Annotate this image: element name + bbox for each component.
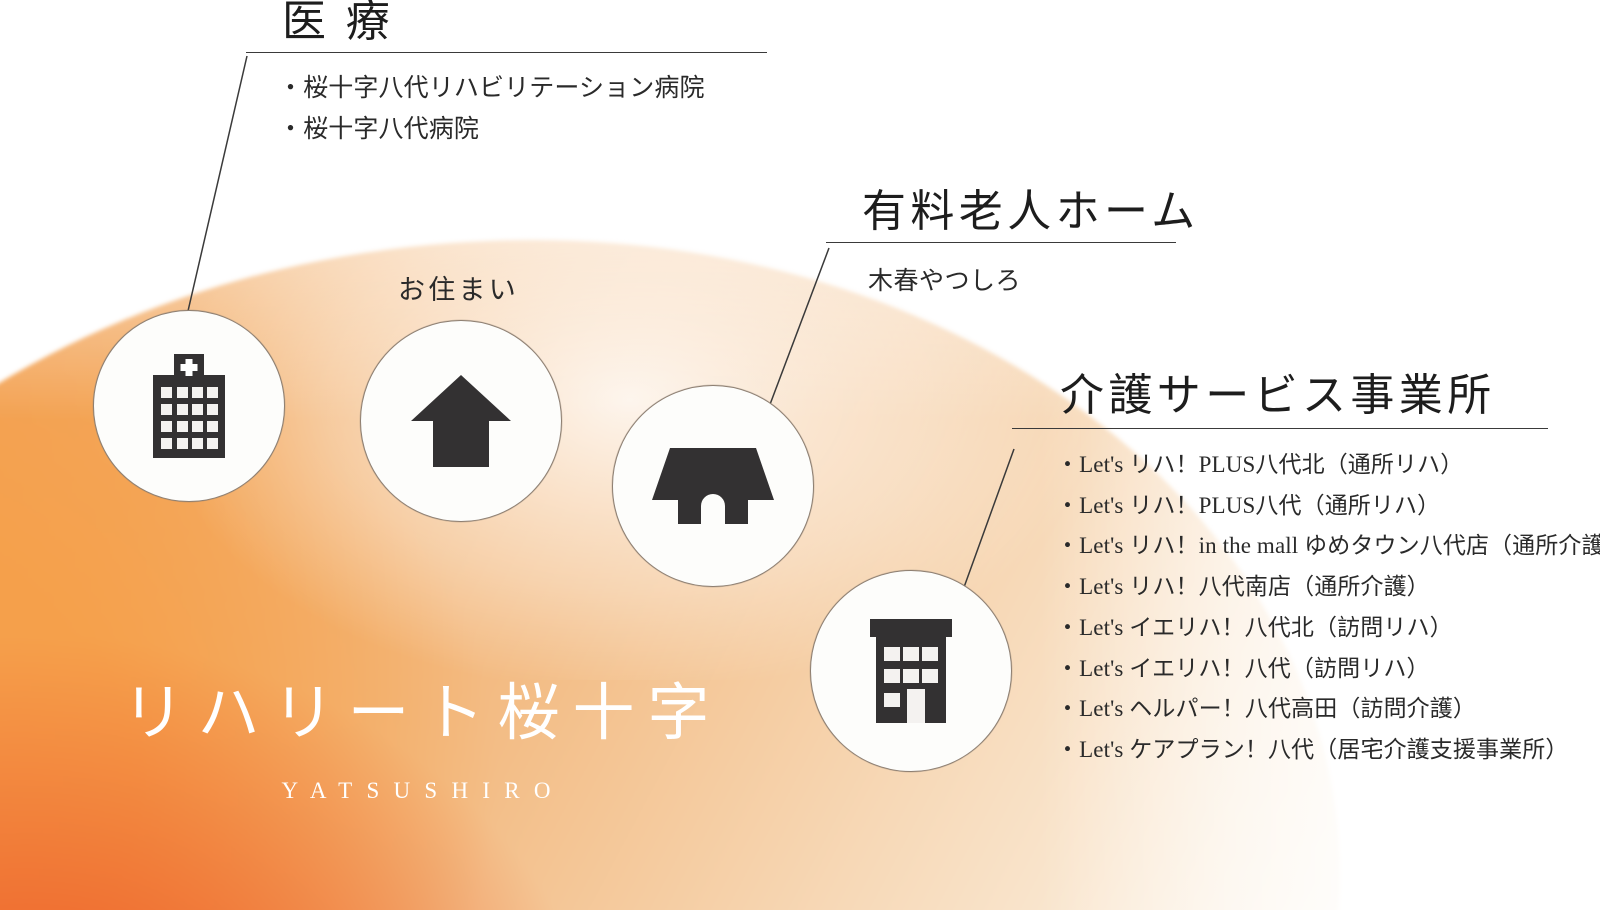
callout-medical: 医 療 ・桜十字八代リハビリテーション病院 ・桜十字八代病院 bbox=[246, 0, 767, 150]
node-circle-residence[interactable] bbox=[360, 320, 562, 522]
brand-lockup: リハリート桜十字 YATSUSHIRO bbox=[96, 680, 736, 804]
list-item: ・Let's ケアプラン！八代（居宅介護支援事業所） bbox=[1056, 730, 1600, 771]
list-item: ・Let's ヘルパー！八代高田（訪問介護） bbox=[1056, 689, 1600, 730]
callout-medical-list: ・桜十字八代リハビリテーション病院 ・桜十字八代病院 bbox=[278, 69, 767, 150]
callout-nursing-home: 有料老人ホーム 木春やつしろ bbox=[826, 190, 1199, 297]
list-item: ・Let's イエリハ！八代北（訪問リハ） bbox=[1056, 608, 1600, 649]
list-item: ・Let's リハ！八代南店（通所介護） bbox=[1056, 567, 1600, 608]
callout-care-service-list: ・Let's リハ！PLUS八代北（通所リハ） ・Let's リハ！PLUS八代… bbox=[1056, 445, 1600, 771]
infographic-canvas: お住まい 医 療 ・桜十字八代リハビリテーション病院 ・桜十字八代病院 有料老人… bbox=[0, 0, 1600, 910]
callout-care-service-title: 介護サービス事業所 bbox=[1060, 374, 1600, 418]
node-circle-nursing-home[interactable] bbox=[612, 385, 814, 587]
connector-care-service bbox=[963, 449, 1014, 590]
callout-nursing-home-item: 木春やつしろ bbox=[868, 261, 1199, 297]
connector-medical bbox=[188, 56, 247, 311]
node-circle-care-service[interactable] bbox=[810, 570, 1012, 772]
home-arrow-icon bbox=[411, 375, 511, 467]
list-item: ・Let's リハ！PLUS八代北（通所リハ） bbox=[1056, 445, 1600, 486]
hospital-building-icon bbox=[146, 354, 232, 458]
residence-label: お住まい bbox=[398, 268, 519, 307]
list-item: ・Let's イエリハ！八代（訪問リハ） bbox=[1056, 649, 1600, 690]
brand-name-en: YATSUSHIRO bbox=[96, 778, 736, 804]
callout-medical-title: 医 療 bbox=[282, 0, 767, 44]
callout-nursing-home-rule bbox=[826, 242, 1176, 243]
house-icon bbox=[652, 448, 774, 524]
list-item: ・桜十字八代病院 bbox=[278, 110, 767, 151]
list-item: ・Let's リハ！in the mall ゆめタウン八代店（通所介護） bbox=[1056, 526, 1600, 567]
list-item: ・Let's リハ！PLUS八代（通所リハ） bbox=[1056, 486, 1600, 527]
callout-nursing-home-title: 有料老人ホーム bbox=[862, 190, 1199, 234]
list-item: ・桜十字八代リハビリテーション病院 bbox=[278, 69, 767, 110]
connector-nursing-home bbox=[766, 248, 829, 415]
node-circle-medical[interactable] bbox=[93, 310, 285, 502]
brand-name-jp: リハリート桜十字 bbox=[96, 680, 736, 748]
callout-care-service: 介護サービス事業所 ・Let's リハ！PLUS八代北（通所リハ） ・Let's… bbox=[1012, 374, 1600, 771]
office-building-icon bbox=[870, 619, 952, 723]
callout-medical-rule bbox=[246, 52, 767, 53]
callout-care-service-rule bbox=[1012, 428, 1548, 429]
